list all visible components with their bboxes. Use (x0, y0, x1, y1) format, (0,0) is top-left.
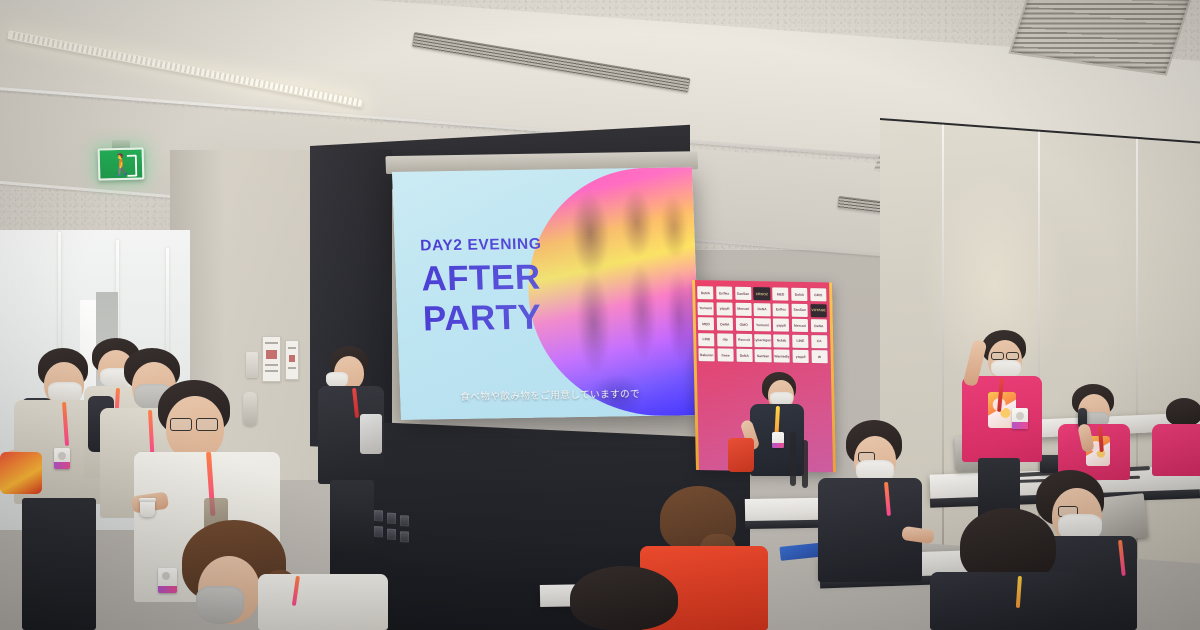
torso (258, 574, 388, 630)
name-badge (772, 432, 784, 448)
sponsor-logo-cell: SanSan (755, 349, 772, 362)
wall-handset[interactable] (243, 392, 257, 426)
sponsor-logo-cell: DeNA (754, 303, 771, 316)
slide-headline-2: PARTY (422, 299, 545, 339)
carried-bag (0, 452, 42, 494)
projection-screen: DAY2 EVENING AFTER PARTY 食べ物や飲み物をご用意していま… (392, 167, 701, 420)
sponsor-logo-cell: Enflex (716, 286, 733, 299)
sponsor-logo-cell: Enflex (773, 303, 790, 316)
name-badge (1012, 408, 1028, 429)
sponsor-logo-cell: Recruit (736, 333, 753, 346)
sponsor-logo-cell: MED (772, 287, 789, 300)
slide-duotone-photo (524, 167, 701, 417)
sponsor-logo-cell: LINE (792, 334, 809, 347)
sponsor-logo-cell: VOYAGE (810, 304, 827, 317)
wall-outlet-plate (387, 513, 396, 524)
sponsor-logo-cell: Mercari (792, 319, 809, 332)
coffee-cup (140, 498, 155, 517)
held-item (728, 438, 754, 472)
glasses (196, 418, 218, 431)
sponsor-logo-cell: CA (811, 335, 828, 348)
wall-outlet-plate (387, 529, 396, 540)
wall-outlet-plate (400, 515, 409, 526)
tshirt-graphic (360, 414, 382, 454)
photo-sheen (524, 167, 701, 417)
wall-instruction-placard (262, 336, 281, 382)
mic-stand (790, 432, 796, 486)
sponsor-logo-cell: yappli (792, 350, 809, 363)
mic-stand (802, 440, 808, 488)
wall-instruction-placard (285, 340, 299, 380)
sponsor-logo-cell: Rakuten (698, 348, 715, 361)
wall-outlet-plate (374, 526, 383, 537)
sponsor-logo-grid: DeNAEnflexSanSanCROOZMEDDeNAGMOYumemiyap… (697, 286, 828, 363)
sponsor-logo-cell: Yumemi (754, 318, 771, 331)
emergency-exit-sign: 🚶 (98, 147, 145, 180)
legs (22, 498, 96, 630)
sponsor-logo-cell: DeNA (717, 317, 734, 330)
legs (330, 480, 374, 552)
wall-outlet-plate (374, 510, 383, 521)
sponsor-logo-cell: dip (717, 333, 734, 346)
sponsor-logo-cell: SanSan (735, 287, 752, 300)
name-badge (158, 568, 177, 593)
venue-photograph: 🚶 DAY2 EVENING AFTER PARTY 食べ物や飲み物をご用意して… (0, 0, 1200, 630)
sponsor-logo-cell: CyberAgent (754, 334, 771, 347)
sponsor-logo-cell: Yumemi (697, 302, 714, 315)
name-badge (54, 448, 70, 469)
slide-headline-1: AFTER (421, 259, 544, 299)
sponsor-logo-cell: GMO (810, 288, 827, 301)
torso (1152, 424, 1200, 476)
sponsor-logo-cell: Nulab (773, 334, 790, 347)
sponsor-logo-cell: LINE (698, 333, 715, 346)
sponsor-logo-cell: Wantedly (774, 350, 791, 363)
sponsor-logo-cell: yappli (716, 302, 733, 315)
sponsor-logo-cell: SanSan (791, 303, 808, 316)
face-mask (196, 586, 244, 624)
glasses (991, 352, 1004, 360)
sponsor-logo-cell: DeNA (736, 349, 753, 362)
sponsor-logo-cell: Mercari (735, 302, 752, 315)
wall-outlet-plate (400, 531, 409, 542)
exit-doorway-icon (127, 155, 138, 177)
hair (1166, 398, 1200, 426)
sponsor-logo-cell: DeNA (697, 286, 714, 299)
glasses (1006, 352, 1019, 360)
torso (930, 572, 1080, 630)
sponsor-logo-cell: DeNA (811, 319, 828, 332)
sponsor-logo-cell: DeNA (791, 288, 808, 301)
projected-slide: DAY2 EVENING AFTER PARTY 食べ物や飲み物をご用意していま… (392, 167, 701, 420)
backdrop-border (829, 282, 836, 472)
sponsor-logo-cell: W (811, 350, 828, 363)
slide-kicker: DAY2 EVENING (420, 237, 542, 254)
sponsor-logo-cell: CROOZ (754, 287, 771, 300)
slide-text-block: DAY2 EVENING AFTER PARTY (420, 237, 545, 339)
running-person-exit-icon: 🚶 (109, 154, 126, 178)
sponsor-logo-cell: GMO (735, 318, 752, 331)
sponsor-logo-cell: freee (717, 349, 734, 362)
wall-intercom[interactable] (246, 352, 258, 378)
sponsor-logo-cell: yappli (773, 318, 790, 331)
sponsor-logo-cell: MED (698, 317, 715, 330)
glasses (170, 418, 192, 431)
hair (570, 566, 678, 630)
